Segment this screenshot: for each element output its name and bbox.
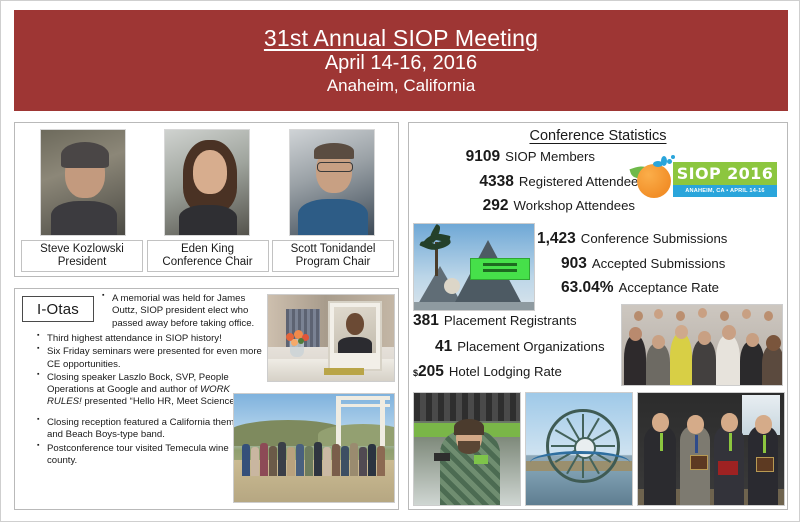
list-item: Postconference tour visited Temecula win… — [47, 443, 241, 468]
audience-crowd-photo — [621, 304, 783, 386]
stats-title: Conference Statistics — [409, 128, 787, 144]
stat-label: Conference Submissions — [581, 232, 728, 245]
speaker-text-post: presented “Hello HR, Meet Science.” — [82, 396, 241, 407]
header-dates: April 14-16, 2016 — [325, 53, 477, 75]
stat-placement-organizations: 41 Placement Organizations — [413, 339, 629, 355]
list-item-speaker: Closing speaker Laszlo Bock, SVP, People… — [47, 372, 264, 409]
palm-tree-icon — [422, 228, 452, 274]
stat-siop-members: 9109 SIOP Members — [417, 149, 645, 165]
badge-card — [474, 455, 488, 464]
red-folder — [718, 461, 738, 475]
stat-value: 63.04% — [561, 280, 614, 296]
stat-label: SIOP Members — [505, 150, 595, 163]
iotas-bullet-block-end: Closing reception featured a California … — [36, 417, 241, 468]
person-role: Conference Chair — [162, 256, 252, 269]
stat-conference-submissions: 1,423 Conference Submissions — [537, 231, 781, 247]
siop-2016-logo: SIOP 2016 ANAHEIM, CA • APRIL 14-16 — [631, 156, 779, 200]
caption-steve-kozlowski: Steve Kozlowski President — [21, 240, 143, 272]
stat-value: 41 — [435, 339, 452, 355]
header-location: Anaheim, California — [327, 77, 475, 95]
stat-accepted-submissions: 903 Accepted Submissions — [537, 256, 781, 272]
person-name: Eden King — [181, 243, 234, 256]
stat-label: Placement Organizations — [457, 340, 604, 353]
list-item: A memorial was held for James Outtz, SIO… — [112, 293, 261, 330]
attendee-badge-photo — [413, 392, 521, 506]
stat-hotel-lodging-rate: $205 Hotel Lodging Rate — [413, 364, 629, 380]
stats-group-placement: 381 Placement Registrants 41 Placement O… — [413, 313, 629, 390]
caption-eden-king: Eden King Conference Chair — [147, 240, 269, 272]
stat-workshop-attendees: 292 Workshop Attendees — [417, 198, 645, 214]
stat-value: 1,423 — [537, 231, 576, 247]
stat-value: 205 — [418, 364, 444, 380]
iotas-label: I-Otas — [22, 296, 94, 322]
page-header: 31st Annual SIOP Meeting April 14-16, 20… — [14, 10, 788, 111]
logo-primary-bar: SIOP 2016 — [673, 162, 777, 185]
caption-scott-tonidandel: Scott Tonidandel Program Chair — [272, 240, 394, 272]
portrait-eden-king — [164, 129, 250, 236]
stat-value: 381 — [413, 313, 439, 329]
stats-group-membership: 9109 SIOP Members 4338 Registered Attend… — [417, 149, 645, 223]
list-item: Third highest attendance in SIOP history… — [47, 333, 264, 345]
iotas-first-bullet-block: A memorial was held for James Outtz, SIO… — [101, 293, 261, 331]
fun-wheel-photo — [525, 392, 633, 506]
wine-tour-photo — [233, 393, 395, 503]
portrait-steve-kozlowski — [40, 129, 126, 236]
stat-label: Workshop Attendees — [514, 199, 635, 212]
stat-label: Accepted Submissions — [592, 257, 725, 270]
poster-page: 31st Annual SIOP Meeting April 14-16, 20… — [0, 0, 800, 522]
logo-secondary-bar: ANAHEIM, CA • APRIL 14-16 — [673, 185, 777, 197]
stat-label: Placement Registrants — [444, 314, 577, 327]
stat-value: 292 — [483, 198, 509, 214]
stat-placement-registrants: 381 Placement Registrants — [413, 313, 629, 329]
portrait-caption-row: Steve Kozlowski President Eden King Conf… — [21, 240, 394, 272]
anaheim-sign-photo — [413, 223, 535, 311]
page-title: 31st Annual SIOP Meeting — [264, 26, 538, 51]
name-tag — [434, 453, 450, 461]
stat-value: 4338 — [479, 174, 513, 190]
award-winners-photo — [637, 392, 785, 506]
stat-label: Acceptance Rate — [619, 281, 719, 294]
memorial-portrait-frame — [328, 301, 382, 371]
person-role: President — [58, 256, 107, 269]
iotas-bullet-block-mid: Third highest attendance in SIOP history… — [36, 333, 264, 410]
iotas-panel: I-Otas A memorial was held for James Out… — [14, 288, 399, 510]
stat-acceptance-rate: 63.04% Acceptance Rate — [537, 280, 781, 296]
portrait-row — [21, 129, 394, 239]
conference-statistics-panel: Conference Statistics 9109 SIOP Members … — [408, 122, 788, 510]
led-marquee — [470, 258, 530, 280]
stat-label: Registered Attendees — [519, 175, 645, 188]
logo-secondary-text: ANAHEIM, CA • APRIL 14-16 — [685, 188, 764, 194]
person-name: Steve Kozlowski — [40, 243, 124, 256]
stat-value: 9109 — [466, 149, 500, 165]
stat-registered-attendees: 4338 Registered Attendees — [417, 174, 645, 190]
list-item: Closing reception featured a California … — [47, 417, 241, 442]
logo-primary-text: SIOP 2016 — [677, 164, 774, 183]
memorial-photo — [267, 294, 395, 382]
stat-label: Hotel Lodging Rate — [449, 365, 562, 378]
leadership-panel: Steve Kozlowski President Eden King Conf… — [14, 122, 399, 277]
list-item: Six Friday seminars were presented for e… — [47, 346, 264, 371]
stats-group-submissions: 1,423 Conference Submissions 903 Accepte… — [537, 231, 781, 305]
portrait-scott-tonidandel — [289, 129, 375, 236]
person-role: Program Chair — [296, 256, 371, 269]
person-name: Scott Tonidandel — [291, 243, 376, 256]
glasses-icon — [317, 162, 353, 172]
stat-value: 903 — [561, 256, 587, 272]
